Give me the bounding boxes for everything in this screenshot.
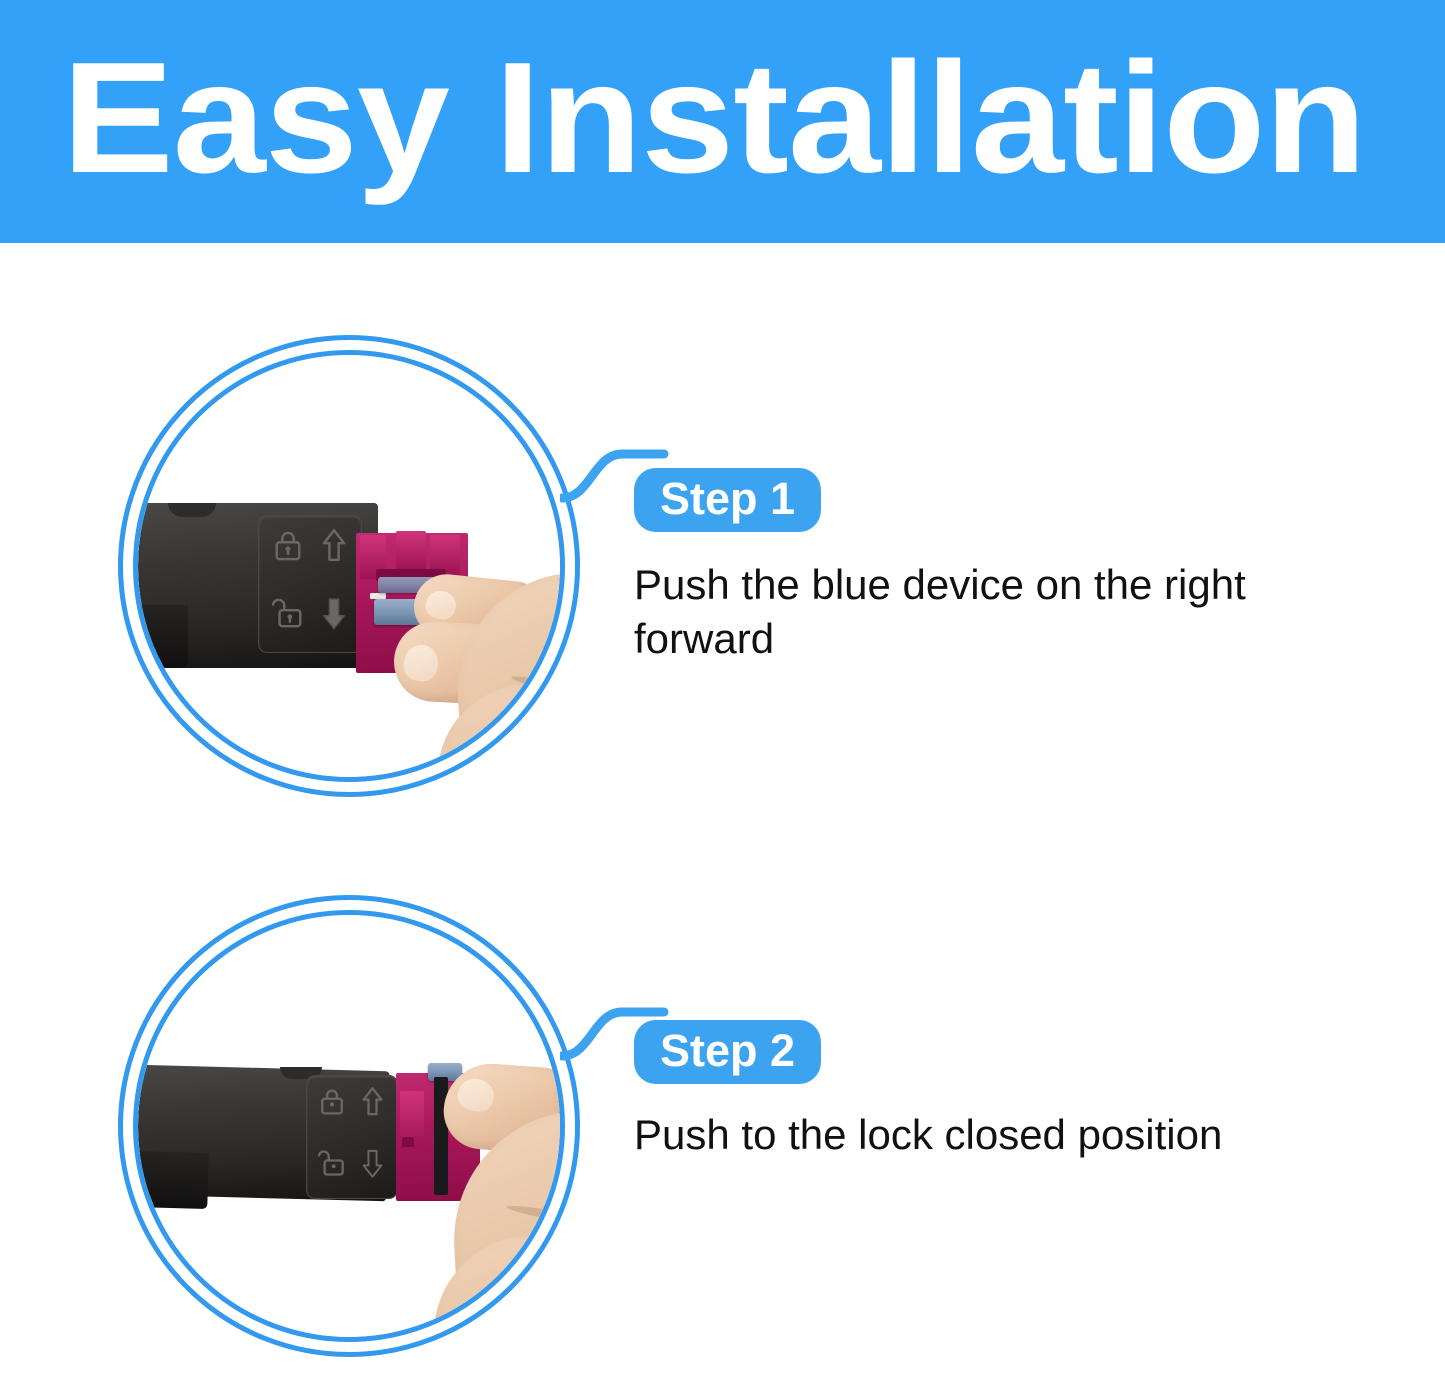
- padlock-open-icon: [313, 1142, 351, 1184]
- step-2-photo: [138, 915, 560, 1337]
- step-1-photo-ring-inner: [133, 350, 565, 782]
- page-title: Easy Installation: [62, 39, 1366, 197]
- installation-infographic: Easy Installation: [0, 0, 1445, 1375]
- step-1-photo-scene: [138, 355, 560, 777]
- cartridge-magenta-shadow: [402, 1137, 414, 1147]
- header-banner: Easy Installation: [0, 0, 1445, 243]
- cartridge-magenta-rib-2: [396, 531, 426, 571]
- padlock-open-icon: [267, 590, 309, 636]
- step-2-description: Push to the lock closed position: [634, 1108, 1334, 1162]
- cartridge-label-plate: [258, 515, 362, 653]
- step-2-badge-label: Step 2: [660, 1028, 795, 1073]
- step-1-description: Push the blue device on the right forwar…: [634, 558, 1324, 666]
- lower-palm: [430, 1232, 560, 1337]
- cartridge-black-step: [138, 1149, 209, 1209]
- arrow-down-icon: [315, 590, 353, 636]
- cartridge-black-step: [138, 605, 188, 668]
- step-1-badge-label: Step 1: [660, 476, 795, 521]
- cartridge-notch: [168, 503, 216, 517]
- step-2-badge[interactable]: Step 2: [634, 1020, 821, 1084]
- padlock-closed-icon: [267, 524, 309, 568]
- step-2-photo-circle: [118, 895, 580, 1357]
- step-1-photo: [138, 355, 560, 777]
- padlock-closed-icon: [313, 1082, 351, 1122]
- arrow-down-icon: [355, 1142, 389, 1184]
- cartridge-label-plate: [306, 1075, 398, 1199]
- arrow-up-icon: [355, 1082, 389, 1122]
- step-2-photo-scene: [138, 915, 560, 1337]
- step-1-badge[interactable]: Step 1: [634, 468, 821, 532]
- step-1-photo-circle: [118, 335, 580, 797]
- step-2-photo-ring-inner: [133, 910, 565, 1342]
- arrow-up-icon: [315, 524, 353, 568]
